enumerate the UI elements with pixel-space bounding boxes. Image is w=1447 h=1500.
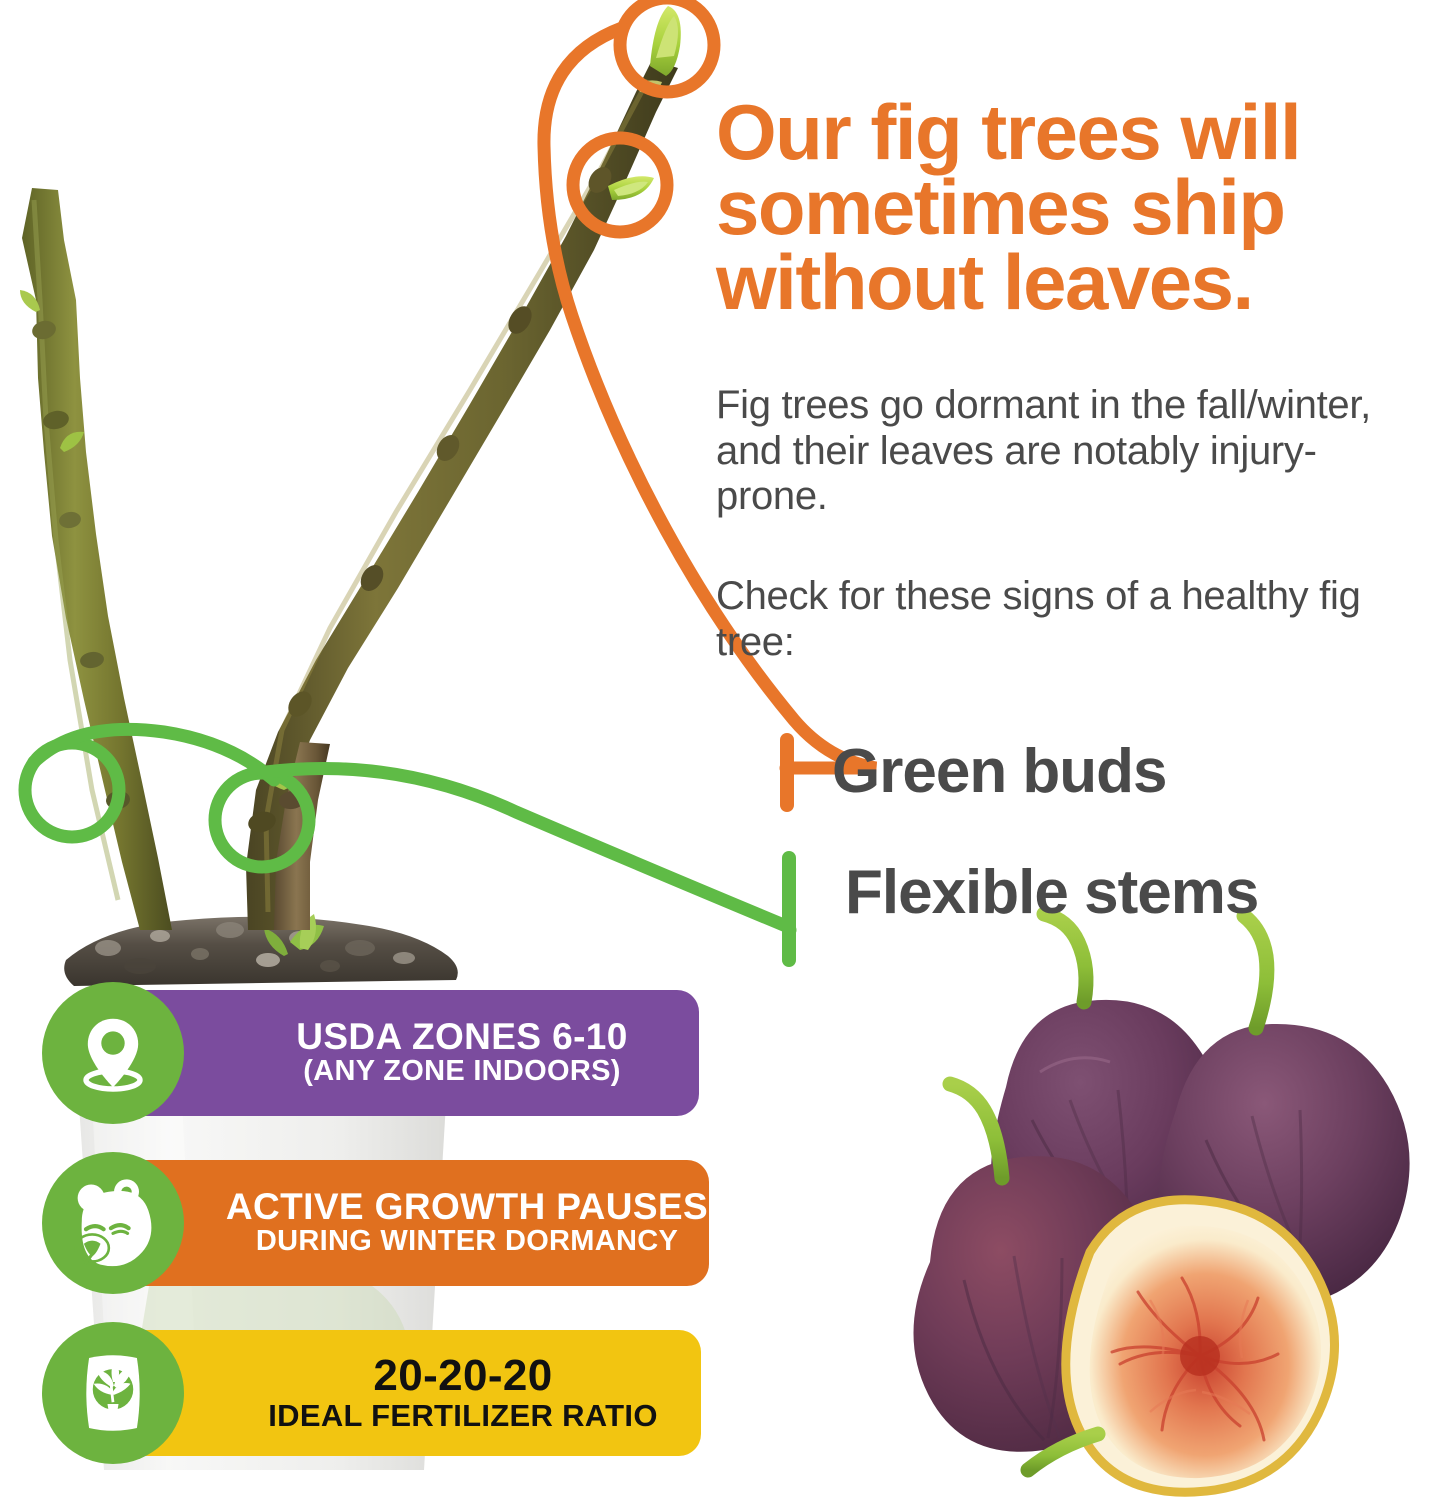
green-connector-path-a bbox=[34, 729, 274, 780]
badge-title-fertilizer-ratio: 20-20-20 bbox=[373, 1353, 552, 1399]
badge-subtitle-usda-zones: (ANY ZONE INDOORS) bbox=[303, 1056, 620, 1088]
headline-line-3: without leaves. bbox=[716, 245, 1447, 320]
orange-highlight-circle-1 bbox=[620, 0, 714, 92]
green-bud-tip-top bbox=[636, 6, 681, 92]
location-pin-icon bbox=[42, 982, 184, 1124]
green-highlight-circle-2 bbox=[215, 773, 309, 867]
body-paragraph-check-signs: Check for these signs of a healthy fig t… bbox=[716, 574, 1376, 665]
body-paragraph-dormancy: Fig trees go dormant in the fall/winter,… bbox=[716, 383, 1376, 520]
badge-bar-winter-dormancy: ACTIVE GROWTH PAUSES DURING WINTER DORMA… bbox=[139, 1160, 709, 1286]
badge-title-winter-dormancy: ACTIVE GROWTH PAUSES bbox=[226, 1188, 708, 1227]
flexible-stems-annotation bbox=[25, 729, 790, 960]
badge-title-usda-zones: USDA ZONES 6-10 bbox=[296, 1018, 628, 1057]
fig-branch-left bbox=[20, 188, 172, 930]
fertilizer-bag-icon bbox=[42, 1322, 184, 1464]
fig-branch-center bbox=[246, 6, 681, 930]
badge-bar-fertilizer-ratio: 20-20-20 IDEAL FERTILIZER RATIO bbox=[139, 1330, 701, 1456]
orange-highlight-circle-2 bbox=[573, 138, 667, 232]
fig-whole-back-left bbox=[991, 914, 1226, 1275]
sign-label-green-buds: Green buds bbox=[832, 736, 1167, 807]
figs-photo bbox=[913, 914, 1409, 1492]
headline-line-1: Our fig trees will bbox=[716, 95, 1447, 170]
hibernating-bear-icon bbox=[42, 1152, 184, 1294]
badge-subtitle-winter-dormancy: DURING WINTER DORMANCY bbox=[256, 1226, 678, 1258]
fig-stem bbox=[1244, 916, 1267, 1028]
green-bud-lateral bbox=[608, 176, 654, 200]
infographic-canvas: Our fig trees will sometimes ship withou… bbox=[0, 0, 1447, 1500]
sign-label-flexible-stems: Flexible stems bbox=[845, 857, 1258, 928]
green-connector-path-b bbox=[266, 768, 790, 930]
badge-subtitle-fertilizer-ratio: IDEAL FERTILIZER RATIO bbox=[268, 1399, 658, 1433]
fig-branch-right bbox=[262, 742, 330, 930]
headline: Our fig trees will sometimes ship withou… bbox=[716, 95, 1447, 320]
fig-stem bbox=[950, 1084, 1002, 1178]
fig-whole-front-left bbox=[913, 1084, 1162, 1452]
fig-stem bbox=[1028, 1434, 1098, 1470]
soil-sprout bbox=[264, 914, 324, 956]
green-highlight-circle-1 bbox=[25, 743, 119, 837]
fig-halved bbox=[1028, 1200, 1335, 1492]
fig-whole-back-right bbox=[1159, 916, 1410, 1309]
badge-bar-usda-zones: USDA ZONES 6-10 (ANY ZONE INDOORS) bbox=[139, 990, 699, 1116]
headline-line-2: sometimes ship bbox=[716, 170, 1447, 245]
